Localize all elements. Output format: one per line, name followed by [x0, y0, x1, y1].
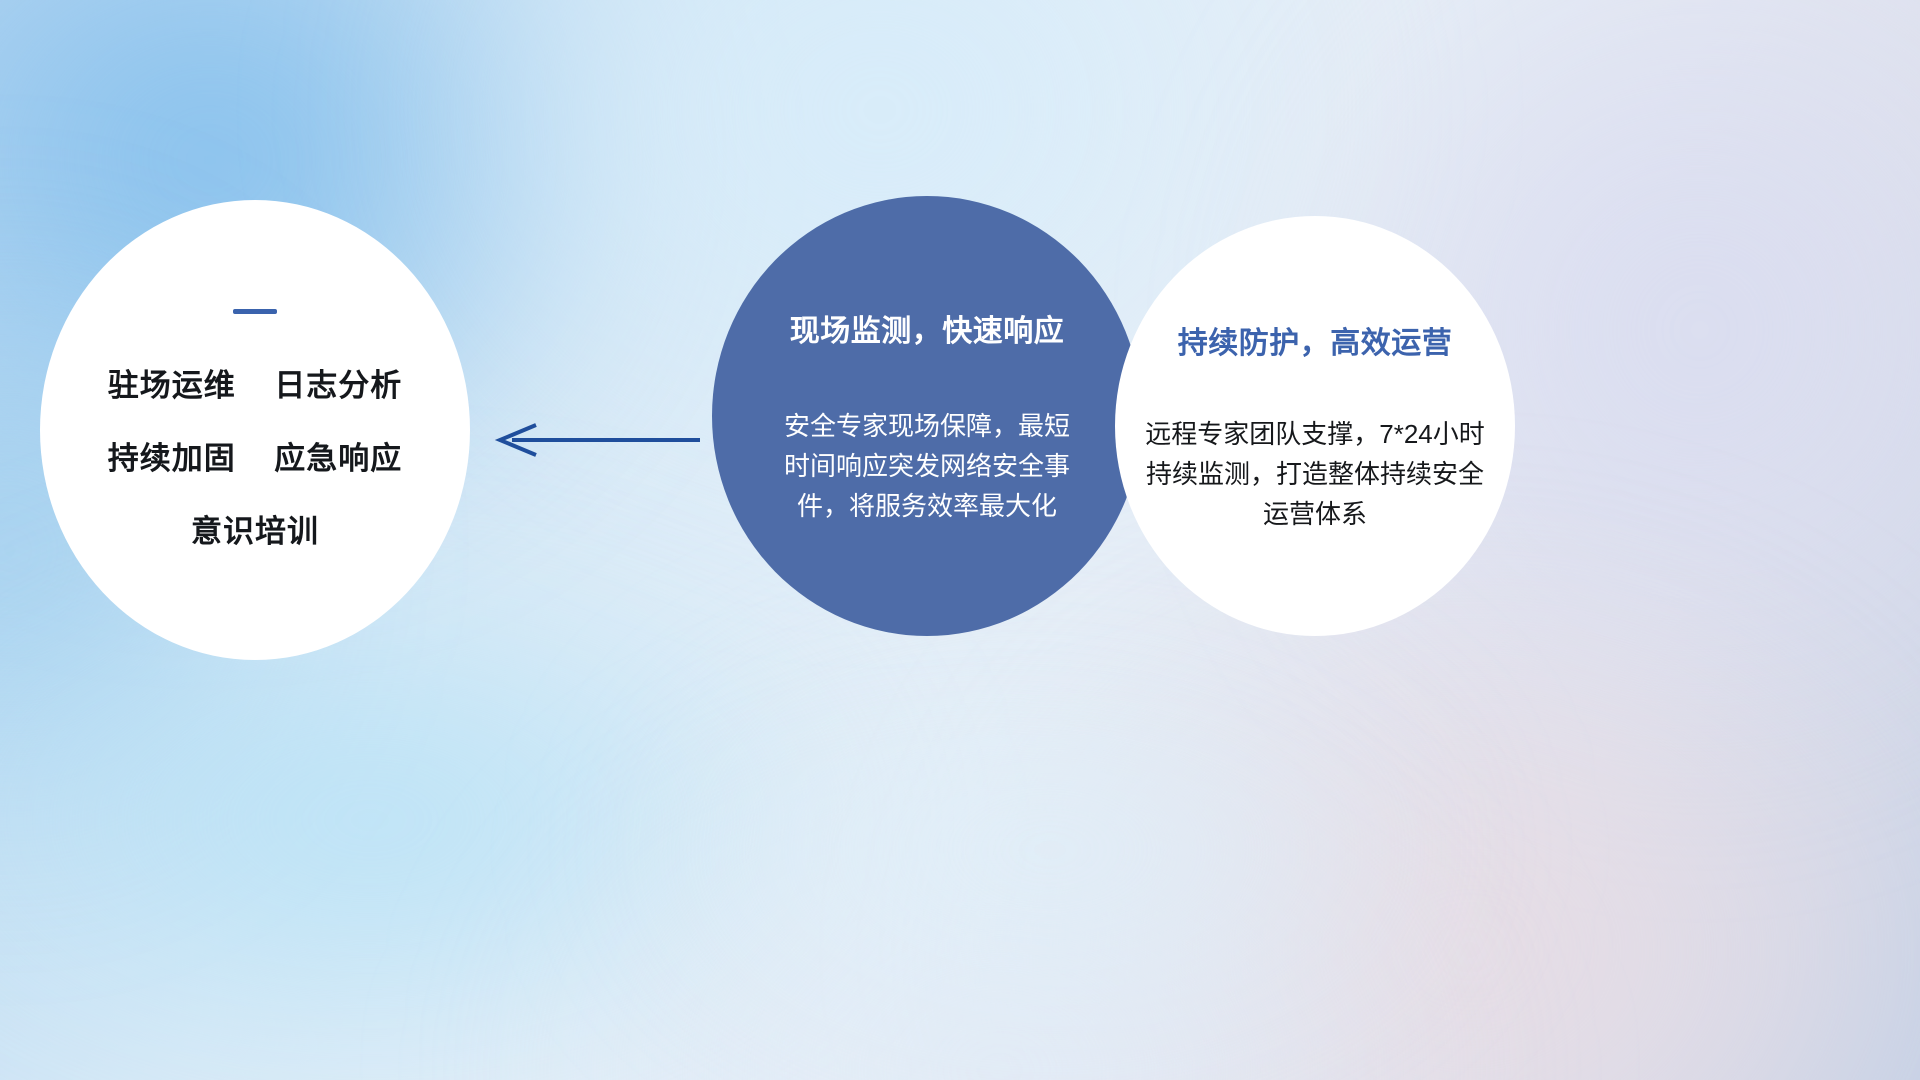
- onsite-monitoring-title: 现场监测，快速响应: [790, 306, 1065, 350]
- slide-canvas: 驻场运维 日志分析 持续加固 应急响应 意识培训 现场监测，快速响应 安全专家现…: [0, 0, 1920, 1080]
- continuous-protection-circle[interactable]: 持续防护，高效运营 远程专家团队支撑，7*24小时持续监测，打造整体持续安全运营…: [1115, 216, 1515, 636]
- divider-dash: [233, 309, 277, 314]
- capabilities-circle[interactable]: 驻场运维 日志分析 持续加固 应急响应 意识培训: [40, 200, 470, 660]
- onsite-monitoring-circle[interactable]: 现场监测，快速响应 安全专家现场保障，最短时间响应突发网络安全事件，将服务效率最…: [712, 196, 1142, 636]
- capability-line-3: 意识培训: [108, 506, 402, 551]
- capability-line-2: 持续加固 应急响应: [108, 433, 402, 478]
- capability-line-1: 驻场运维 日志分析: [108, 360, 402, 405]
- flow-arrow: [500, 425, 700, 455]
- capability-list: 驻场运维 日志分析 持续加固 应急响应 意识培训: [108, 360, 402, 551]
- onsite-monitoring-body: 安全专家现场保障，最短时间响应突发网络安全事件，将服务效率最大化: [777, 406, 1077, 527]
- continuous-protection-title: 持续防护，高效运营: [1178, 318, 1453, 362]
- continuous-protection-body: 远程专家团队支撑，7*24小时持续监测，打造整体持续安全运营体系: [1141, 414, 1489, 535]
